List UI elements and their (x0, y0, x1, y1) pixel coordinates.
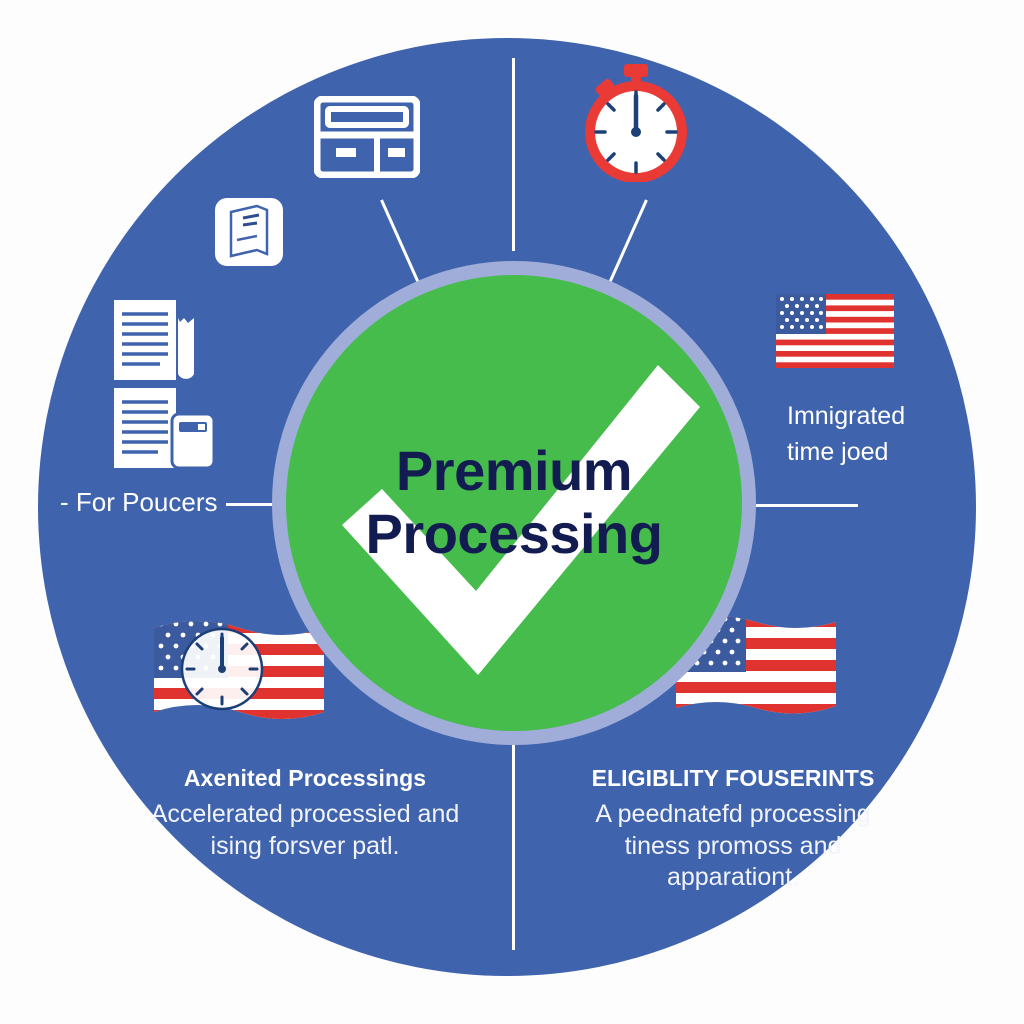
label-left: - For Poucers (60, 487, 218, 518)
booklet-documents-icon (213, 196, 285, 268)
label-right-line-1: Imnigrated (787, 398, 957, 434)
label-right: Imnigrated time joed (787, 398, 957, 471)
quadrant-bottom-right-title: ELIGIBLITY FOUSERINTS (568, 765, 898, 792)
stopwatch-icon (580, 62, 692, 182)
quadrant-bottom-left-body: Accelerated processied and ising forsver… (140, 799, 470, 862)
infographic-canvas: Premium Processing - For Poucers Imnigra… (0, 0, 1024, 1024)
label-right-line-2: time joed (787, 434, 957, 470)
quadrant-bottom-right-body: A peednatefd processing tiness promoss a… (568, 799, 898, 894)
quadrant-bottom-left: Axenited Processings Accelerated process… (140, 765, 470, 862)
connector-line-bottom-vertical (512, 738, 515, 950)
connector-line-top-vertical (512, 58, 515, 251)
connector-line-right-horizontal (740, 504, 858, 507)
quadrant-bottom-right: ELIGIBLITY FOUSERINTS A peednatefd proce… (568, 765, 898, 894)
stacked-documents-icon (110, 296, 220, 472)
center-title-line-2: Processing (366, 503, 663, 566)
us-flag-flat-icon (776, 294, 894, 368)
center-title-line-1: Premium (396, 440, 632, 503)
page-title: Premium Processing (286, 275, 742, 731)
quadrant-bottom-left-title: Axenited Processings (140, 765, 470, 792)
form-layout-icon (314, 96, 420, 178)
